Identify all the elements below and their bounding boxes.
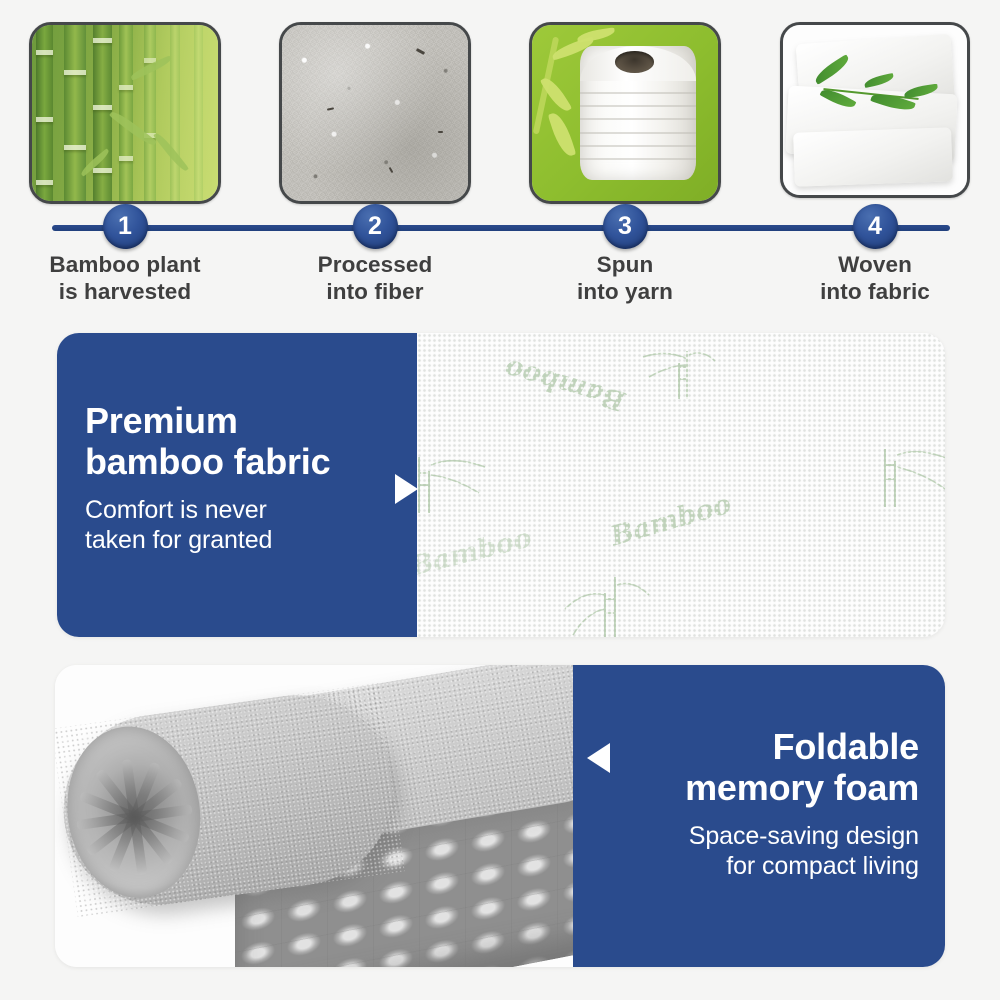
- bamboo-sprig-icon-1: [635, 341, 721, 403]
- step-caption-4-line2: into fabric: [750, 279, 1000, 306]
- process-thumbnail-row: [0, 22, 1000, 200]
- foldable-memory-foam-text-pane: Foldable memory foam Space-saving design…: [573, 665, 945, 967]
- card2-subtitle-line2: for compact living: [589, 852, 919, 882]
- bamboo-sprig-icon-4: [563, 569, 659, 637]
- badge-cell-2: 2: [250, 204, 500, 252]
- card1-title-line1: Premium: [85, 401, 415, 442]
- step-caption-4: Woven into fabric: [750, 252, 1000, 305]
- premium-bamboo-fabric-text-pane: Premium bamboo fabric Comfort is never t…: [57, 333, 417, 637]
- bamboo-fiber-photo: [279, 22, 471, 204]
- step-caption-3-line2: into yarn: [500, 279, 750, 306]
- step-badge-4: 4: [853, 204, 898, 249]
- bamboo-sprig-icon-3: [865, 437, 945, 509]
- card2-title-line2: memory foam: [589, 768, 919, 809]
- card2-subtitle-line1: Space-saving design: [589, 822, 919, 852]
- step-caption-2-line1: Processed: [250, 252, 500, 279]
- step-caption-4-line1: Woven: [750, 252, 1000, 279]
- step-badge-1: 1: [103, 204, 148, 249]
- premium-bamboo-fabric-copy: Premium bamboo fabric Comfort is never t…: [85, 401, 415, 555]
- fabric-watermark-3: Bamboo: [407, 522, 535, 582]
- process-thumbnail-cell-1: [0, 22, 250, 200]
- step-caption-2-line2: into fiber: [250, 279, 500, 306]
- fabric-watermark-1: Bamboo: [501, 353, 629, 417]
- rolled-memory-foam-photo: [55, 665, 573, 967]
- step-badge-3: 3: [603, 204, 648, 249]
- feature-card-premium-bamboo-fabric: Bamboo Bamboo: [57, 333, 945, 637]
- bamboo-fabric-closeup: Bamboo Bamboo: [417, 333, 945, 637]
- step-caption-3: Spun into yarn: [500, 252, 750, 305]
- process-step-captions: Bamboo plant is harvested Processed into…: [0, 252, 1000, 305]
- foldable-memory-foam-copy: Foldable memory foam Space-saving design…: [589, 727, 919, 881]
- process-thumbnail-cell-3: [500, 22, 750, 200]
- card1-subtitle-line1: Comfort is never: [85, 496, 415, 526]
- step-caption-3-line1: Spun: [500, 252, 750, 279]
- step-badge-2: 2: [353, 204, 398, 249]
- process-thumbnail-cell-2: [250, 22, 500, 200]
- triangle-right-icon: [395, 474, 418, 504]
- card1-title-line2: bamboo fabric: [85, 442, 415, 483]
- process-steps-section: 1 2 3 4 Bamboo plant is harvested Proces…: [0, 0, 1000, 310]
- step-caption-1-line1: Bamboo plant: [0, 252, 250, 279]
- card2-title-line1: Foldable: [589, 727, 919, 768]
- step-caption-1-line2: is harvested: [0, 279, 250, 306]
- fabric-watermark-2: Bamboo: [607, 489, 735, 553]
- process-thumbnail-cell-4: [750, 22, 1000, 200]
- step-caption-1: Bamboo plant is harvested: [0, 252, 250, 305]
- card1-subtitle-line2: taken for granted: [85, 526, 415, 556]
- step-caption-2: Processed into fiber: [250, 252, 500, 305]
- feature-card-foldable-memory-foam: Foldable memory foam Space-saving design…: [55, 665, 945, 967]
- badge-cell-1: 1: [0, 204, 250, 252]
- badge-cell-3: 3: [500, 204, 750, 252]
- process-step-badges: 1 2 3 4: [0, 204, 1000, 252]
- badge-cell-4: 4: [750, 204, 1000, 252]
- foam-roll-cut-face: [56, 718, 211, 907]
- yarn-spool-photo: [529, 22, 721, 204]
- woven-fabric-photo: [780, 22, 970, 198]
- bamboo-forest-photo: [29, 22, 221, 204]
